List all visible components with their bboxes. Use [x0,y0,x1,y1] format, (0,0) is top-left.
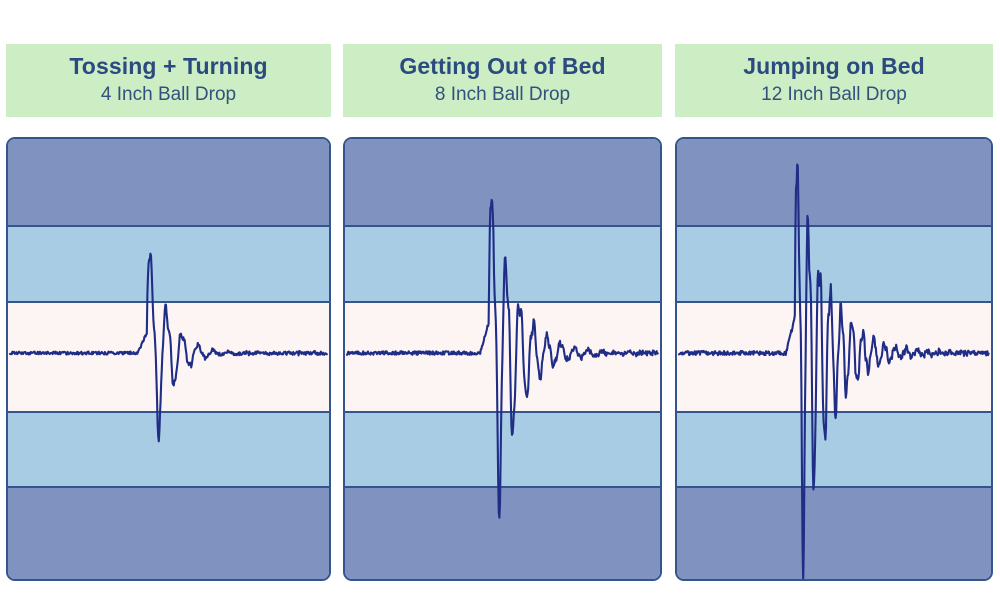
panel-getting-out-of-bed: Getting Out of Bed8 Inch Ball Drop [343,0,662,607]
waveform-trace [677,139,991,579]
panel-header-chip: Getting Out of Bed8 Inch Ball Drop [343,44,662,117]
seismograph-card [6,137,331,581]
panel-subtitle: 4 Inch Ball Drop [101,83,236,107]
seismograph-card [675,137,993,581]
panel-header-chip: Jumping on Bed12 Inch Ball Drop [675,44,993,117]
seismograph-comparison-figure: Tossing + Turning4 Inch Ball DropGetting… [0,0,1000,607]
waveform-path [679,165,989,579]
waveform-trace [345,139,660,579]
panel-subtitle: 12 Inch Ball Drop [761,83,907,107]
panel-title: Tossing + Turning [69,54,267,79]
panel-title: Getting Out of Bed [399,54,605,79]
seismograph-card [343,137,662,581]
waveform-path [347,200,658,518]
panel-title: Jumping on Bed [743,54,925,79]
waveform-path [10,254,327,442]
waveform-trace [8,139,329,579]
panel-tossing-turning: Tossing + Turning4 Inch Ball Drop [6,0,331,607]
panel-header-chip: Tossing + Turning4 Inch Ball Drop [6,44,331,117]
panel-subtitle: 8 Inch Ball Drop [435,83,570,107]
panel-jumping-on-bed: Jumping on Bed12 Inch Ball Drop [675,0,993,607]
